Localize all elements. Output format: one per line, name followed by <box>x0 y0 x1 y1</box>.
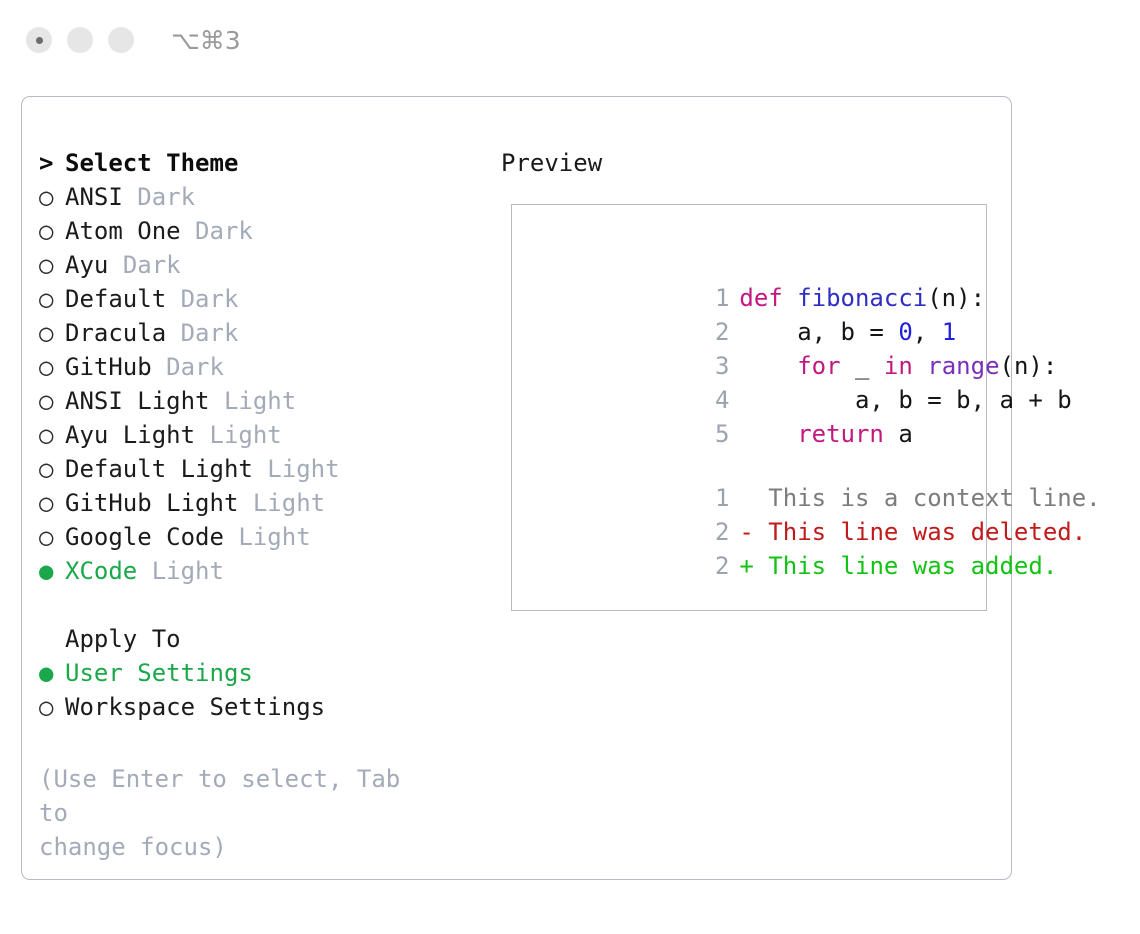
code-token-keyword: def <box>739 284 797 312</box>
code-token-plain <box>739 352 797 380</box>
code-token-keyword: in <box>884 352 913 380</box>
code-token-builtin: range <box>927 352 999 380</box>
code-token-plain: (n): <box>927 284 985 312</box>
theme-name: Dracula <box>65 319 166 347</box>
radio-unselected-icon: ○ <box>39 282 65 316</box>
theme-kind: Light <box>224 387 296 415</box>
diff-sign <box>739 484 753 512</box>
select-theme-header: >Select Theme <box>39 146 479 180</box>
theme-name: Atom One <box>65 217 181 245</box>
theme-kind: Dark <box>181 319 239 347</box>
theme-kind: Dark <box>166 353 224 381</box>
apply-to-header: Apply To <box>39 622 479 656</box>
theme-list-item[interactable]: ○Default Light Light <box>39 452 479 486</box>
line-number: 2 <box>699 515 729 549</box>
line-number: 5 <box>699 417 729 451</box>
line-number: 1 <box>699 281 729 315</box>
radio-selected-icon: ● <box>39 656 65 690</box>
radio-selected-icon: ● <box>39 554 65 588</box>
radio-unselected-icon: ○ <box>39 316 65 350</box>
theme-kind: Dark <box>195 217 253 245</box>
code-sample: 1def fibonacci(n): 2 a, b = 0, 1 3 for _… <box>526 247 976 549</box>
code-token-keyword: return <box>797 420 884 448</box>
apply-to-option-label: Workspace Settings <box>65 693 325 721</box>
theme-kind: Light <box>152 557 224 585</box>
theme-kind: Light <box>210 421 282 449</box>
apply-to-option-workspace-settings[interactable]: ○Workspace Settings <box>39 690 479 724</box>
window-control-close[interactable] <box>26 27 52 53</box>
code-token-plain: a, b = <box>739 318 898 346</box>
code-token-plain: a <box>884 420 913 448</box>
theme-kind: Light <box>238 523 310 551</box>
apply-to-option-user-settings[interactable]: ●User Settings <box>39 656 479 690</box>
radio-unselected-icon: ○ <box>39 248 65 282</box>
apply-to-option-label: User Settings <box>65 659 253 687</box>
preview-box: 1def fibonacci(n): 2 a, b = 0, 1 3 for _… <box>511 204 987 611</box>
window-control-maximize[interactable] <box>108 27 134 53</box>
title-bar: ⌥⌘3 <box>0 0 1140 80</box>
theme-list-item[interactable]: ○GitHub Dark <box>39 350 479 384</box>
theme-picker-panel: >Select Theme ○ANSI Dark ○Atom One Dark … <box>21 96 1012 880</box>
window-control-dot-icon <box>36 37 43 44</box>
select-theme-header-label: Select Theme <box>65 149 238 177</box>
theme-list-item[interactable]: ○GitHub Light Light <box>39 486 479 520</box>
preview-header: Preview <box>501 146 991 180</box>
theme-name: Ayu Light <box>65 421 195 449</box>
theme-name: ANSI Light <box>65 387 210 415</box>
help-hint: (Use Enter to select, Tab to change focu… <box>39 762 439 864</box>
code-token-plain <box>913 352 927 380</box>
code-line: 1def fibonacci(n): <box>526 247 976 281</box>
theme-name: Ayu <box>65 251 108 279</box>
theme-name: GitHub Light <box>65 489 238 517</box>
radio-unselected-icon: ○ <box>39 418 65 452</box>
theme-list-item[interactable]: ○Dracula Dark <box>39 316 479 350</box>
theme-kind: Light <box>267 455 339 483</box>
line-number: 1 <box>699 481 729 515</box>
theme-name: XCode <box>65 557 137 585</box>
theme-list-item[interactable]: ○Atom One Dark <box>39 214 479 248</box>
theme-name: Default <box>65 285 166 313</box>
app-window: ⌥⌘3 >Select Theme ○ANSI Dark ○Atom One D… <box>0 0 1140 934</box>
help-hint-line-2: change focus) <box>39 830 439 864</box>
theme-list-item-selected[interactable]: ●XCode Light <box>39 554 479 588</box>
radio-unselected-icon: ○ <box>39 452 65 486</box>
theme-name: GitHub <box>65 353 152 381</box>
theme-name: Default Light <box>65 455 253 483</box>
radio-unselected-icon: ○ <box>39 180 65 214</box>
code-token-plain: (n): <box>1000 352 1058 380</box>
theme-list-column: >Select Theme ○ANSI Dark ○Atom One Dark … <box>39 146 479 724</box>
diff-text: This is a context line. <box>754 484 1101 512</box>
theme-list-item[interactable]: ○ANSI Light Light <box>39 384 479 418</box>
line-number: 4 <box>699 383 729 417</box>
radio-unselected-icon: ○ <box>39 520 65 554</box>
diff-text: This line was added. <box>754 552 1057 580</box>
theme-kind: Light <box>253 489 325 517</box>
diff-text: This line was deleted. <box>754 518 1086 546</box>
line-number: 3 <box>699 349 729 383</box>
theme-list-item[interactable]: ○ANSI Dark <box>39 180 479 214</box>
code-token-plain: a, b = b, a + b <box>739 386 1071 414</box>
radio-unselected-icon: ○ <box>39 690 65 724</box>
line-number: 2 <box>699 315 729 349</box>
radio-unselected-icon: ○ <box>39 350 65 384</box>
radio-unselected-icon: ○ <box>39 384 65 418</box>
theme-kind: Dark <box>123 251 181 279</box>
diff-sign: - <box>739 518 753 546</box>
code-token-number: 0 <box>898 318 912 346</box>
theme-kind: Dark <box>181 285 239 313</box>
radio-unselected-icon: ○ <box>39 214 65 248</box>
theme-list-item[interactable]: ○Ayu Dark <box>39 248 479 282</box>
code-token-plain <box>739 420 797 448</box>
line-number: 2 <box>699 549 729 583</box>
preview-column: Preview 1def fibonacci(n): 2 a, b = 0, 1… <box>501 146 991 180</box>
code-token-plain: , <box>913 318 942 346</box>
keyboard-shortcut-label: ⌥⌘3 <box>171 26 241 55</box>
theme-list-item[interactable]: ○Google Code Light <box>39 520 479 554</box>
diff-sign: + <box>739 552 753 580</box>
theme-kind: Dark <box>137 183 195 211</box>
theme-list-item[interactable]: ○Ayu Light Light <box>39 418 479 452</box>
theme-list-item[interactable]: ○Default Dark <box>39 282 479 316</box>
code-token-keyword: for <box>797 352 840 380</box>
window-control-minimize[interactable] <box>67 27 93 53</box>
theme-name: Google Code <box>65 523 224 551</box>
code-token-plain: _ <box>841 352 884 380</box>
radio-unselected-icon: ○ <box>39 486 65 520</box>
list-spacer <box>39 588 479 622</box>
code-token-number: 1 <box>942 318 956 346</box>
help-hint-line-1: (Use Enter to select, Tab to <box>39 762 439 830</box>
code-token-function: fibonacci <box>797 284 927 312</box>
header-caret-icon: > <box>39 146 65 180</box>
theme-name: ANSI <box>65 183 123 211</box>
